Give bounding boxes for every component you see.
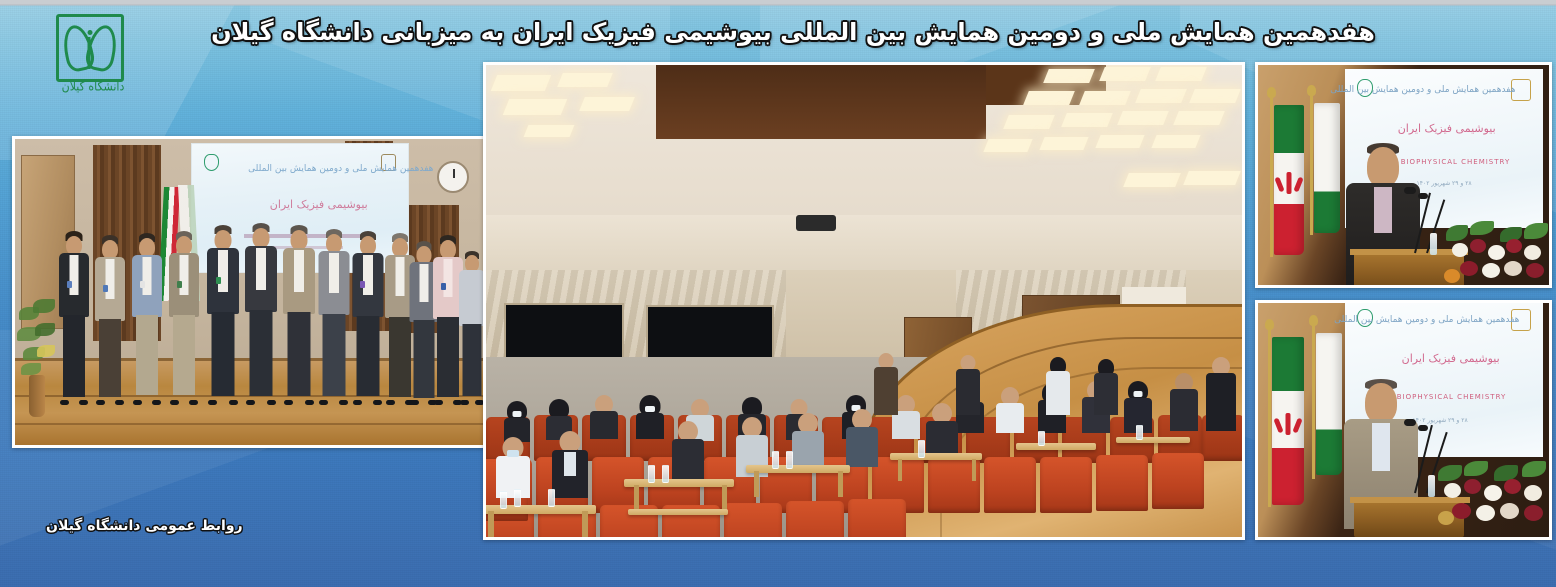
ceiling-light bbox=[579, 97, 635, 111]
ceiling-light bbox=[1079, 91, 1131, 105]
screen-line-1: هفدهمین همایش ملی و دومین همایش بین المل… bbox=[1330, 85, 1515, 95]
water-bottle bbox=[1430, 233, 1437, 255]
ceiling-light bbox=[1123, 173, 1181, 187]
auditorium-photo-content bbox=[486, 65, 1242, 537]
flower-arrangement bbox=[1438, 461, 1549, 533]
auditorium-seat bbox=[1096, 455, 1148, 511]
ceiling-light bbox=[1117, 111, 1169, 125]
ceiling-light bbox=[557, 73, 613, 87]
water-bottle bbox=[1428, 475, 1435, 497]
water-bottle bbox=[1136, 425, 1143, 440]
side-table bbox=[746, 465, 850, 473]
attendee-standing bbox=[1094, 359, 1118, 415]
logo-caption: دانشگاه گیلان bbox=[48, 79, 138, 94]
ceiling-light bbox=[1173, 111, 1225, 125]
water-bottle bbox=[500, 491, 507, 509]
table-leg bbox=[754, 471, 759, 497]
microphone-head bbox=[1418, 425, 1428, 431]
ceiling-light bbox=[983, 139, 1032, 152]
iran-flag bbox=[1274, 105, 1304, 255]
table-leg bbox=[488, 511, 494, 537]
attendee-standing bbox=[956, 355, 980, 415]
attendee bbox=[636, 395, 664, 439]
ceiling-light bbox=[1003, 115, 1055, 129]
attendee bbox=[672, 421, 704, 483]
auditorium-seat bbox=[848, 499, 906, 537]
group-member bbox=[459, 251, 483, 401]
attendee bbox=[926, 403, 958, 459]
water-bottle bbox=[662, 465, 669, 483]
ceiling-light bbox=[1023, 91, 1075, 105]
screen-line-1: هفدهمین همایش ملی و دومین همایش بین المل… bbox=[248, 164, 433, 174]
auditorium-seat bbox=[984, 457, 1036, 513]
attendee bbox=[846, 409, 878, 467]
projector bbox=[796, 215, 836, 231]
wall-clock-icon bbox=[437, 161, 469, 193]
water-bottle bbox=[1038, 431, 1045, 446]
emblem-dot bbox=[88, 30, 93, 35]
auditorium-seat bbox=[1040, 457, 1092, 513]
university-logo: دانشگاه گیلان bbox=[46, 14, 144, 112]
ceiling-light bbox=[1183, 171, 1241, 185]
page-title: هفدهمین همایش ملی و دومین همایش بین المل… bbox=[150, 19, 1436, 47]
water-bottle bbox=[548, 489, 555, 507]
auditorium-seat bbox=[1152, 453, 1204, 509]
ceiling-light bbox=[524, 125, 575, 137]
flower-arrangement bbox=[1444, 221, 1549, 285]
attendee bbox=[792, 413, 824, 471]
top-gray-strip-shadow bbox=[0, 4, 1556, 6]
side-table bbox=[1016, 443, 1096, 450]
screen-line-2: بیوشیمی فیزیک ایران bbox=[270, 198, 368, 211]
microphone-head bbox=[1404, 419, 1416, 426]
attendee-standing bbox=[1206, 357, 1236, 431]
table-leg bbox=[972, 459, 976, 481]
ceiling-light bbox=[1061, 113, 1113, 127]
water-bottle bbox=[918, 440, 925, 458]
auditorium-seat bbox=[724, 503, 782, 537]
speaker-at-podium-photo-2[interactable]: هفدهمین همایش ملی و دومین همایش بین المل… bbox=[1255, 300, 1552, 540]
attendee bbox=[496, 437, 530, 497]
ceiling-light bbox=[1135, 89, 1187, 103]
iran-flag bbox=[1272, 337, 1304, 505]
attendee bbox=[552, 431, 588, 497]
institution-flag bbox=[1314, 103, 1340, 233]
side-table bbox=[1116, 437, 1190, 443]
water-bottle bbox=[786, 451, 793, 469]
side-table-shelf bbox=[628, 509, 728, 515]
group-member bbox=[352, 231, 383, 401]
auditorium-seat bbox=[786, 501, 844, 537]
attendee bbox=[1170, 373, 1198, 431]
speaker2-photo-content: هفدهمین همایش ملی و دومین همایش بین المل… bbox=[1258, 303, 1549, 537]
table-leg bbox=[582, 511, 588, 537]
decorative-plant bbox=[17, 297, 61, 417]
auditorium-audience-photo[interactable] bbox=[483, 62, 1245, 540]
water-bottle bbox=[648, 465, 655, 483]
ceiling-light bbox=[503, 99, 567, 115]
attendee bbox=[996, 387, 1024, 433]
plant-vase bbox=[29, 375, 45, 417]
ceiling-light bbox=[1043, 69, 1095, 83]
ceiling-wood-panel bbox=[656, 65, 986, 139]
group-member bbox=[283, 225, 315, 401]
screen-line-1: هفدهمین همایش ملی و دومین همایش بین المل… bbox=[1334, 315, 1519, 325]
group-member bbox=[169, 231, 199, 401]
banner-canvas: دانشگاه گیلان هفدهمین همایش ملی و دومین … bbox=[0, 0, 1556, 587]
group-photo-on-stage[interactable]: هفدهمین همایش ملی و دومین همایش بین المل… bbox=[12, 136, 486, 448]
ceiling-light bbox=[1039, 137, 1088, 150]
screen-line-2: بیوشیمی فیزیک ایران bbox=[1402, 352, 1500, 365]
table-leg bbox=[898, 459, 902, 481]
group-member bbox=[318, 229, 349, 401]
water-bottle bbox=[772, 451, 779, 469]
ceiling-light bbox=[1151, 135, 1200, 148]
iran-emblem-icon bbox=[1275, 413, 1301, 435]
group-photo-content: هفدهمین همایش ملی و دومین همایش بین المل… bbox=[15, 139, 483, 445]
ceiling-light bbox=[1095, 135, 1144, 148]
iran-emblem-icon bbox=[1276, 172, 1302, 194]
attendee bbox=[504, 401, 530, 441]
group-member bbox=[207, 225, 239, 401]
group-member bbox=[132, 233, 162, 401]
group-member bbox=[95, 235, 125, 401]
screen-line-2: بیوشیمی فیزیک ایران bbox=[1398, 122, 1496, 135]
microphone-head bbox=[1404, 187, 1416, 194]
speaker-at-podium-photo-1[interactable]: هفدهمین همایش ملی و دومین همایش بین المل… bbox=[1255, 62, 1552, 288]
public-relations-credit: روابط عمومی دانشگاه گیلان bbox=[46, 518, 243, 534]
ceiling-light bbox=[1099, 67, 1151, 81]
screen-date-line: ۲۸ و ۲۹ شهریور ۱۴۰۲ bbox=[1413, 417, 1468, 424]
speaker1-photo-content: هفدهمین همایش ملی و دومین همایش بین المل… bbox=[1258, 65, 1549, 285]
attendee bbox=[590, 395, 618, 439]
guilan-emblem-icon bbox=[56, 14, 124, 82]
attendee-standing bbox=[1046, 357, 1070, 415]
attendee-standing bbox=[874, 353, 898, 415]
screen-logo-icon bbox=[204, 154, 219, 171]
water-bottle bbox=[514, 489, 521, 507]
ceiling-light bbox=[491, 75, 551, 91]
institution-flag bbox=[1316, 333, 1342, 475]
ceiling-light bbox=[1155, 67, 1207, 81]
group-member bbox=[59, 231, 89, 401]
microphone-head bbox=[1418, 193, 1428, 199]
group-member bbox=[245, 223, 277, 401]
table-leg bbox=[838, 471, 843, 497]
side-table bbox=[624, 479, 734, 487]
emblem-stem bbox=[88, 37, 91, 69]
ceiling-light bbox=[1189, 89, 1241, 103]
screen-date-line: ۲۸ و ۲۹ شهریور ۱۴۰۲ bbox=[1417, 180, 1472, 187]
side-table bbox=[890, 453, 982, 460]
